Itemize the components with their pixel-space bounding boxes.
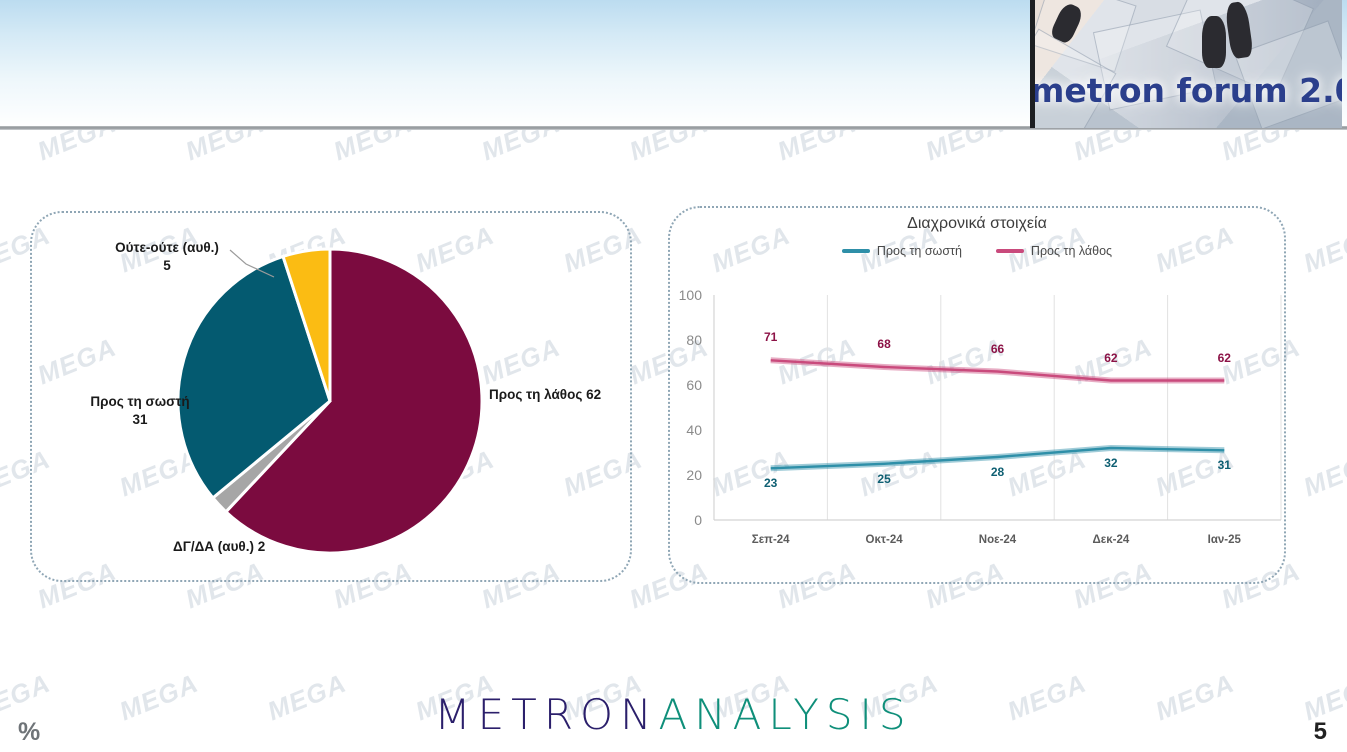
pie-callout-wrong: Προς τη λάθος 62	[489, 386, 601, 404]
banner-left-edge	[1030, 0, 1035, 128]
series-line-wrong	[771, 360, 1225, 380]
metron-forum-banner: metron forum 2.0	[1030, 0, 1342, 128]
y-axis-tick-label: 20	[668, 467, 702, 483]
pie-callout-right-value: 31	[132, 412, 147, 427]
x-axis-tick-label: Οκτ-24	[866, 534, 903, 546]
pie-callout-neither: Ούτε-ούτε (αυθ.) 5	[92, 239, 242, 275]
data-label-wrong: 62	[1218, 351, 1231, 365]
data-label-right: 23	[764, 476, 777, 490]
x-axis-tick-label: Σεπ-24	[752, 534, 790, 546]
footer-page-number: 5	[1314, 718, 1327, 746]
watermark-text: MEGA	[1299, 444, 1347, 503]
data-label-right: 32	[1104, 456, 1117, 470]
pie-callout-right-label: Προς τη σωστή	[90, 394, 189, 409]
data-label-wrong: 68	[877, 337, 890, 351]
data-label-wrong: 71	[764, 330, 777, 344]
logo-analysis: ANALYSIS	[659, 690, 913, 739]
y-axis-tick-label: 0	[668, 512, 702, 528]
x-axis-tick-label: Δεκ-24	[1093, 534, 1130, 546]
trend-chart: Διαχρονικά στοιχεία Προς τη σωστή Προς τ…	[668, 206, 1286, 584]
x-axis-tick-label: Νοε-24	[979, 534, 1016, 546]
pie-callout-neither-value: 5	[163, 258, 171, 273]
metron-analysis-logo: METRONANALYSIS	[0, 690, 1347, 739]
data-label-right: 28	[991, 465, 1004, 479]
data-label-right: 31	[1218, 458, 1231, 472]
data-label-right: 25	[877, 472, 890, 486]
data-label-wrong: 62	[1104, 351, 1117, 365]
pie-callout-neither-label: Ούτε-ούτε (αυθ.)	[115, 240, 219, 255]
footer-percent-symbol: %	[18, 718, 40, 747]
data-label-wrong: 66	[991, 342, 1004, 356]
logo-metron: METRON	[434, 690, 658, 739]
pie-chart: Ούτε-ούτε (αυθ.) 5 Προς τη σωστή 31 Προς…	[30, 211, 632, 582]
banner-figure-center	[1202, 16, 1226, 68]
x-axis-tick-label: Ιαν-25	[1208, 534, 1241, 546]
trend-chart-svg	[668, 206, 1286, 584]
watermark-text: MEGA	[1299, 220, 1347, 279]
y-axis-tick-label: 100	[668, 287, 702, 303]
banner-title: metron forum 2.0	[1030, 71, 1342, 110]
slide-root: MEGAMEGAMEGAMEGAMEGAMEGAMEGAMEGAMEGAMEGA…	[0, 0, 1347, 752]
y-axis-tick-label: 60	[668, 377, 702, 393]
pie-callout-right: Προς τη σωστή 31	[60, 393, 220, 429]
y-axis-tick-label: 80	[668, 332, 702, 348]
pie-callout-dkna: ΔΓ/ΔΑ (αυθ.) 2	[173, 538, 265, 556]
y-axis-tick-label: 40	[668, 422, 702, 438]
